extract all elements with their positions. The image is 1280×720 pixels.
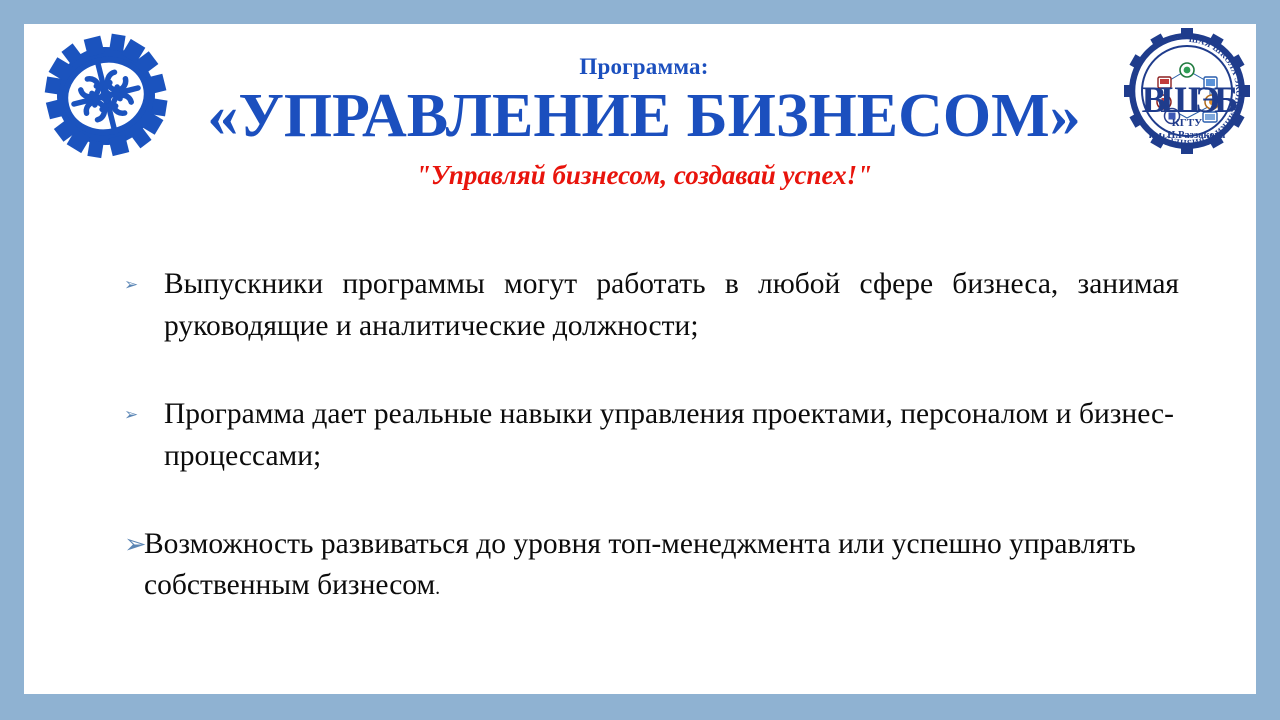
list-item: ➢ Выпускники программы могут работать в … (124, 264, 1179, 348)
slide-header: Программа: «УПРАВЛЕНИЕ БИЗНЕСОМ» "Управл… (174, 54, 1114, 191)
arrow-bullet-icon: ➢ (124, 394, 164, 423)
list-item-trailing-punctuation: . (435, 577, 440, 599)
emblem-institution-name: им. Н.Раззакова (1149, 130, 1226, 141)
list-item-text-main: Возможность развиваться до уровня топ-ме… (144, 528, 1136, 602)
list-item-text: Возможность развиваться до уровня топ-ме… (144, 524, 1179, 608)
slide-frame: ВЫСШАЯ ШКОЛА ЭКОНОМИКИ И БИЗНЕСА (0, 0, 1280, 720)
list-item: ➢ Возможность развиваться до уровня топ-… (124, 524, 1179, 608)
bullet-list: ➢ Выпускники программы могут работать в … (124, 264, 1179, 607)
list-item-text: Программа дает реальные навыки управлени… (164, 394, 1179, 478)
list-item-text: Выпускники программы могут работать в лю… (164, 264, 1179, 348)
emblem-monogram: ВШЭБ (1142, 80, 1237, 121)
kstu-gear-ornament-logo-icon (40, 30, 172, 162)
arrow-bullet-icon: ➢ (124, 524, 144, 558)
program-kicker-label: Программа: (174, 54, 1114, 79)
emblem-institution-abbr: КГТУ (1172, 117, 1202, 129)
slide-canvas: ВЫСШАЯ ШКОЛА ЭКОНОМИКИ И БИЗНЕСА (24, 24, 1256, 694)
program-slogan: "Управляй бизнесом, создавай успех!" (174, 161, 1114, 191)
list-item: ➢ Программа дает реальные навыки управле… (124, 394, 1179, 478)
arrow-bullet-icon: ➢ (124, 264, 164, 293)
higher-school-economics-business-emblem-icon: ВЫСШАЯ ШКОЛА ЭКОНОМИКИ И БИЗНЕСА (1124, 28, 1250, 154)
page-title: «УПРАВЛЕНИЕ БИЗНЕСОМ» (174, 85, 1114, 147)
